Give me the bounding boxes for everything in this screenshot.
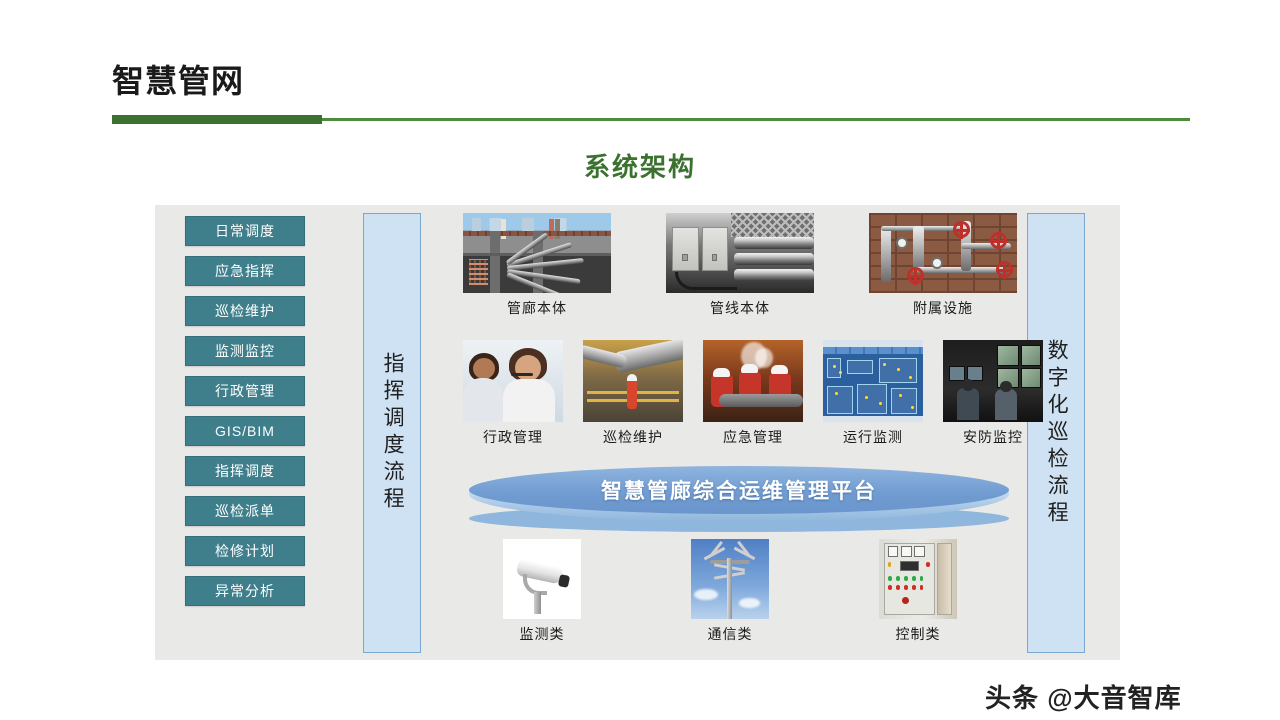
architecture-panel: 日常调度 应急指挥 巡检维护 监测监控 行政管理 GIS/BIM 指挥调度 巡检… [155, 205, 1120, 660]
ancillary-facility-icon [869, 213, 1017, 293]
tile-ancillary-facility[interactable]: 附属设施 [869, 213, 1017, 318]
tile-inspection-maintenance[interactable]: 巡检维护 [583, 340, 683, 447]
tile-row-infrastructure: 管廊本体 管线本体 [463, 213, 1017, 318]
tile-row-devices: 监测类 [503, 539, 957, 644]
slide-root: 智慧管网 系统架构 日常调度 应急指挥 巡检维护 监测监控 行政管理 GIS/B… [0, 0, 1280, 720]
sidebar-item-overhaul-plan[interactable]: 检修计划 [185, 536, 305, 566]
operation-monitoring-icon [823, 340, 923, 422]
sidebar-item-command-dispatch[interactable]: 指挥调度 [185, 456, 305, 486]
watermark: 头条 @大音智库 [985, 678, 1182, 715]
tile-caption: 管廊本体 [507, 298, 567, 318]
sidebar-item-administration[interactable]: 行政管理 [185, 376, 305, 406]
sidebar-item-gis-bim[interactable]: GIS/BIM [185, 416, 305, 446]
tile-administration[interactable]: 行政管理 [463, 340, 563, 447]
tile-emergency-management[interactable]: 应急管理 [703, 340, 803, 447]
sidebar-item-daily-dispatch[interactable]: 日常调度 [185, 216, 305, 246]
tile-caption: 监测类 [520, 624, 565, 644]
sidebar-item-anomaly-analysis[interactable]: 异常分析 [185, 576, 305, 606]
platform-label: 智慧管廊综合运维管理平台 [469, 466, 1009, 514]
sidebar-item-inspection-maint[interactable]: 巡检维护 [185, 296, 305, 326]
tile-caption: 安防监控 [963, 427, 1023, 447]
function-button-stack: 日常调度 应急指挥 巡检维护 监测监控 行政管理 GIS/BIM 指挥调度 巡检… [185, 216, 305, 606]
tile-caption: 行政管理 [483, 427, 543, 447]
utility-corridor-icon [463, 213, 611, 293]
tile-pipeline[interactable]: 管线本体 [666, 213, 814, 318]
cctv-camera-icon [503, 539, 581, 619]
tile-caption: 运行监测 [843, 427, 903, 447]
emergency-management-icon [703, 340, 803, 422]
control-cabinet-icon [879, 539, 957, 619]
tile-monitoring-devices[interactable]: 监测类 [503, 539, 581, 644]
section-title: 系统架构 [0, 147, 1280, 184]
inspection-maintenance-icon [583, 340, 683, 422]
vertical-panel-command-dispatch-flow[interactable]: 指挥调度流程 [363, 213, 421, 653]
tile-operation-monitoring[interactable]: 运行监测 [823, 340, 923, 447]
platform-cylinder: 智慧管廊综合运维管理平台 [469, 466, 1009, 532]
sidebar-item-monitoring[interactable]: 监测监控 [185, 336, 305, 366]
sidebar-item-inspection-order[interactable]: 巡检派单 [185, 496, 305, 526]
tile-security-surveillance[interactable]: 安防监控 [943, 340, 1043, 447]
tile-communication-devices[interactable]: 通信类 [691, 539, 769, 644]
center-content: 管廊本体 管线本体 [455, 213, 1015, 653]
administration-icon [463, 340, 563, 422]
tile-caption: 管线本体 [710, 298, 770, 318]
tile-caption: 通信类 [708, 624, 753, 644]
vertical-panel-right-label: 数字化巡检流程 [1043, 339, 1069, 528]
tile-control-devices[interactable]: 控制类 [879, 539, 957, 644]
tile-caption: 巡检维护 [603, 427, 663, 447]
tile-caption: 附属设施 [913, 298, 973, 318]
page-title: 智慧管网 [112, 65, 244, 97]
title-rule-thin [322, 118, 1190, 121]
pipeline-icon [666, 213, 814, 293]
tile-row-functions: 行政管理 巡检维护 [463, 340, 1043, 447]
tile-caption: 控制类 [896, 624, 941, 644]
sidebar-item-emergency-command[interactable]: 应急指挥 [185, 256, 305, 286]
comms-tower-icon [691, 539, 769, 619]
security-surveillance-icon [943, 340, 1043, 422]
tile-caption: 应急管理 [723, 427, 783, 447]
vertical-panel-left-label: 指挥调度流程 [379, 352, 405, 514]
tile-utility-corridor[interactable]: 管廊本体 [463, 213, 611, 318]
title-rule-thick [112, 115, 322, 124]
